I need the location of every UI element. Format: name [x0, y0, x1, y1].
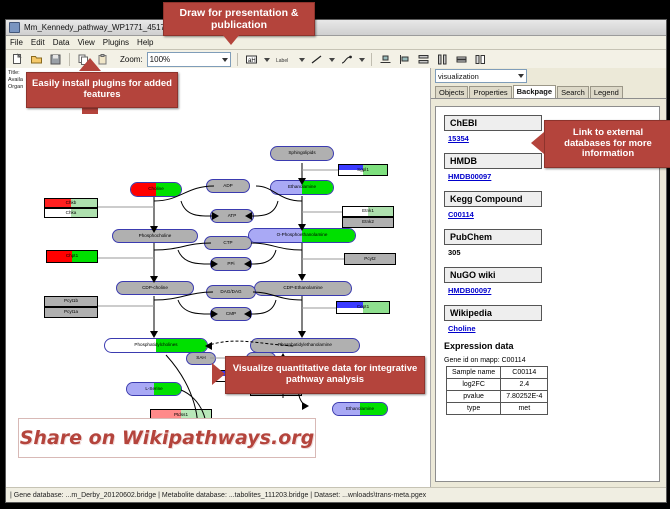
tab-search[interactable]: Search — [557, 86, 589, 98]
new-file-icon[interactable] — [10, 52, 25, 67]
datanode-icon[interactable]: aH — [244, 52, 259, 67]
table-row: Sample name C00114 — [447, 367, 548, 379]
table-cell-value: met — [501, 403, 548, 415]
status-bar: | Gene database: ...m_Derby_20120602.bri… — [6, 487, 666, 502]
db-header-kegg-compound: Kegg Compound — [444, 191, 542, 207]
table-row: pvalue 7.80252E-4 — [447, 391, 548, 403]
db-link-nugo-wiki[interactable]: HMDB00097 — [448, 286, 651, 295]
table-cell-value: C00114 — [501, 367, 548, 379]
db-header-nugo-wiki: NuGO wiki — [444, 267, 542, 283]
label-chevron-icon[interactable] — [299, 58, 305, 62]
window-title: Mm_Kennedy_pathway_WP1771_45176.gp — [24, 23, 181, 32]
zoom-combo[interactable]: 100% — [147, 52, 231, 67]
svg-text:Label: Label — [276, 58, 288, 64]
callout-plugins: Easily install plugins for added feature… — [26, 72, 178, 108]
menu-item-view[interactable]: View — [78, 38, 95, 47]
align-left-icon[interactable] — [397, 52, 412, 67]
db-link-hmdb[interactable]: HMDB00097 — [448, 172, 651, 181]
stack-icon[interactable] — [454, 52, 469, 67]
menu-item-help[interactable]: Help — [137, 38, 153, 47]
table-cell-key: type — [447, 403, 501, 415]
title-bar: Mm_Kennedy_pathway_WP1771_45176.gp — [6, 20, 666, 36]
callout-plugins-arrow-icon — [79, 58, 101, 71]
datanode-chevron-icon[interactable] — [264, 58, 270, 62]
distribute-horizontal-icon[interactable] — [435, 52, 450, 67]
callout-draw-arrow-icon — [222, 34, 240, 45]
group-icon[interactable] — [473, 52, 488, 67]
open-file-icon[interactable] — [29, 52, 44, 67]
svg-text:aH: aH — [248, 58, 256, 64]
chevron-down-icon — [222, 58, 228, 62]
expression-data-title: Expression data — [444, 341, 651, 351]
db-value-pubchem: 305 — [448, 248, 651, 257]
db-header-hmdb: HMDB — [444, 153, 542, 169]
callout-share: Share on Wikipathways.org — [18, 418, 316, 458]
visualization-row: visualization — [431, 68, 666, 84]
pathway-meta-available: Availa — [8, 77, 23, 84]
visualization-select[interactable]: visualization — [435, 69, 527, 83]
table-cell-value: 7.80252E-4 — [501, 391, 548, 403]
callout-links: Link to external databases for more info… — [544, 120, 670, 168]
status-bar-text: | Gene database: ...m_Derby_20120602.bri… — [10, 492, 426, 499]
table-cell-key: pvalue — [447, 391, 501, 403]
table-row: type met — [447, 403, 548, 415]
table-cell-key: Sample name — [447, 367, 501, 379]
tab-objects[interactable]: Objects — [435, 86, 468, 98]
menu-bar: File Edit Data View Plugins Help — [6, 36, 666, 50]
distribute-vertical-icon[interactable] — [416, 52, 431, 67]
db-link-wikipedia[interactable]: Choline — [448, 324, 651, 333]
table-cell-value: 2.4 — [501, 379, 548, 391]
toolbar-separator-3 — [371, 53, 372, 66]
line-icon[interactable] — [309, 52, 324, 67]
callout-visualize-arrow-icon — [212, 363, 225, 385]
callout-draw: Draw for presentation & publication — [163, 2, 315, 36]
app-icon — [9, 22, 20, 33]
label-icon[interactable]: Label — [274, 52, 294, 67]
db-header-chebi: ChEBI — [444, 115, 542, 131]
menu-item-data[interactable]: Data — [53, 38, 70, 47]
callout-share-text: Share on Wikipathways.org — [20, 427, 314, 449]
pathway-meta: Title: Availa Organ — [8, 70, 23, 91]
db-header-wikipedia: Wikipedia — [444, 305, 542, 321]
toolbar-separator-2 — [237, 53, 238, 66]
zoom-value: 100% — [150, 55, 170, 64]
menu-item-file[interactable]: File — [10, 38, 23, 47]
interaction-icon[interactable] — [339, 52, 354, 67]
expression-table: Sample name C00114 log2FC 2.4 pvalue 7.8… — [446, 366, 548, 415]
menu-item-edit[interactable]: Edit — [31, 38, 45, 47]
db-header-pubchem: PubChem — [444, 229, 542, 245]
zoom-label: Zoom: — [120, 55, 143, 64]
gene-id-line: Gene id on mapp: C00114 — [444, 357, 651, 364]
callout-visualize: Visualize quantitative data for integrat… — [225, 356, 425, 394]
pathway-meta-title: Title: — [8, 70, 23, 77]
tab-legend[interactable]: Legend — [590, 86, 623, 98]
align-top-icon[interactable] — [378, 52, 393, 67]
side-panel-tabs: Objects Properties Backpage Search Legen… — [431, 84, 666, 99]
tab-properties[interactable]: Properties — [469, 86, 511, 98]
tool-bar: Zoom: 100% aH Label — [6, 50, 666, 70]
visualization-value: visualization — [438, 72, 479, 81]
save-file-icon[interactable] — [48, 52, 63, 67]
interaction-chevron-icon[interactable] — [359, 58, 365, 62]
tab-backpage[interactable]: Backpage — [513, 85, 556, 98]
db-link-kegg-compound[interactable]: C00114 — [448, 210, 651, 219]
callout-links-arrow-icon — [531, 132, 544, 154]
pathway-meta-organism: Organ — [8, 84, 23, 91]
line-chevron-icon[interactable] — [329, 58, 335, 62]
table-cell-key: log2FC — [447, 379, 501, 391]
table-row: log2FC 2.4 — [447, 379, 548, 391]
menu-item-plugins[interactable]: Plugins — [103, 38, 129, 47]
toolbar-separator-1 — [69, 53, 70, 66]
chevron-down-icon — [518, 74, 524, 78]
